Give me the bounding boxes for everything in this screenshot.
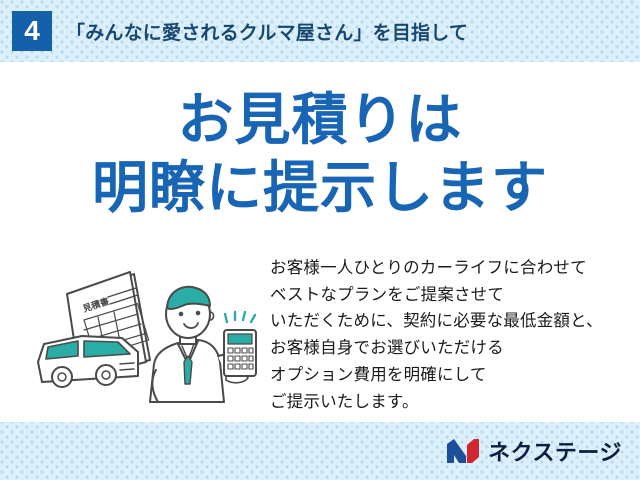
nextage-n-logo-icon xyxy=(446,438,480,464)
step-number-badge: 4 xyxy=(12,11,52,51)
content-card: お見積りは 明瞭に提示します 見積書 xyxy=(0,62,640,422)
van-icon xyxy=(38,336,138,387)
headline-line-2: 明瞭に提示します xyxy=(0,154,640,222)
headline-line-1: お見積りは xyxy=(0,86,640,154)
body-copy-line-4: お客様自身でお選びいただける xyxy=(270,335,630,362)
brand-name: ネクステージ xyxy=(488,435,622,467)
body-copy-line-2: ベストなプランをご提案させて xyxy=(270,282,630,309)
illustration: 見積書 xyxy=(22,252,272,417)
body-copy-line-1: お客様一人ひとりのカーライフに合わせて xyxy=(270,255,630,282)
header-title: 「みんなに愛されるクルマ屋さん」を目指して xyxy=(66,18,468,45)
slide-footer: ネクステージ xyxy=(0,422,640,480)
calculator-icon xyxy=(224,330,256,376)
illustration-svg: 見積書 xyxy=(22,252,272,417)
body-copy-line-3: いただくために、契約に必要な最低金額と、 xyxy=(270,308,630,335)
sparkles-icon xyxy=(225,312,255,322)
body-copy-line-5: オプション費用を明確にして xyxy=(270,362,630,389)
body-copy-line-6: ご提示いたします。 xyxy=(270,389,630,416)
body-copy: お客様一人ひとりのカーライフに合わせて ベストなプランをご提案させて いただくた… xyxy=(270,255,630,415)
headline: お見積りは 明瞭に提示します xyxy=(0,86,640,223)
promo-slide: 4 「みんなに愛されるクルマ屋さん」を目指して お見積りは 明瞭に提示します 見… xyxy=(0,0,640,480)
slide-header: 4 「みんなに愛されるクルマ屋さん」を目指して xyxy=(0,0,640,62)
brand-logo: ネクステージ xyxy=(446,435,622,467)
